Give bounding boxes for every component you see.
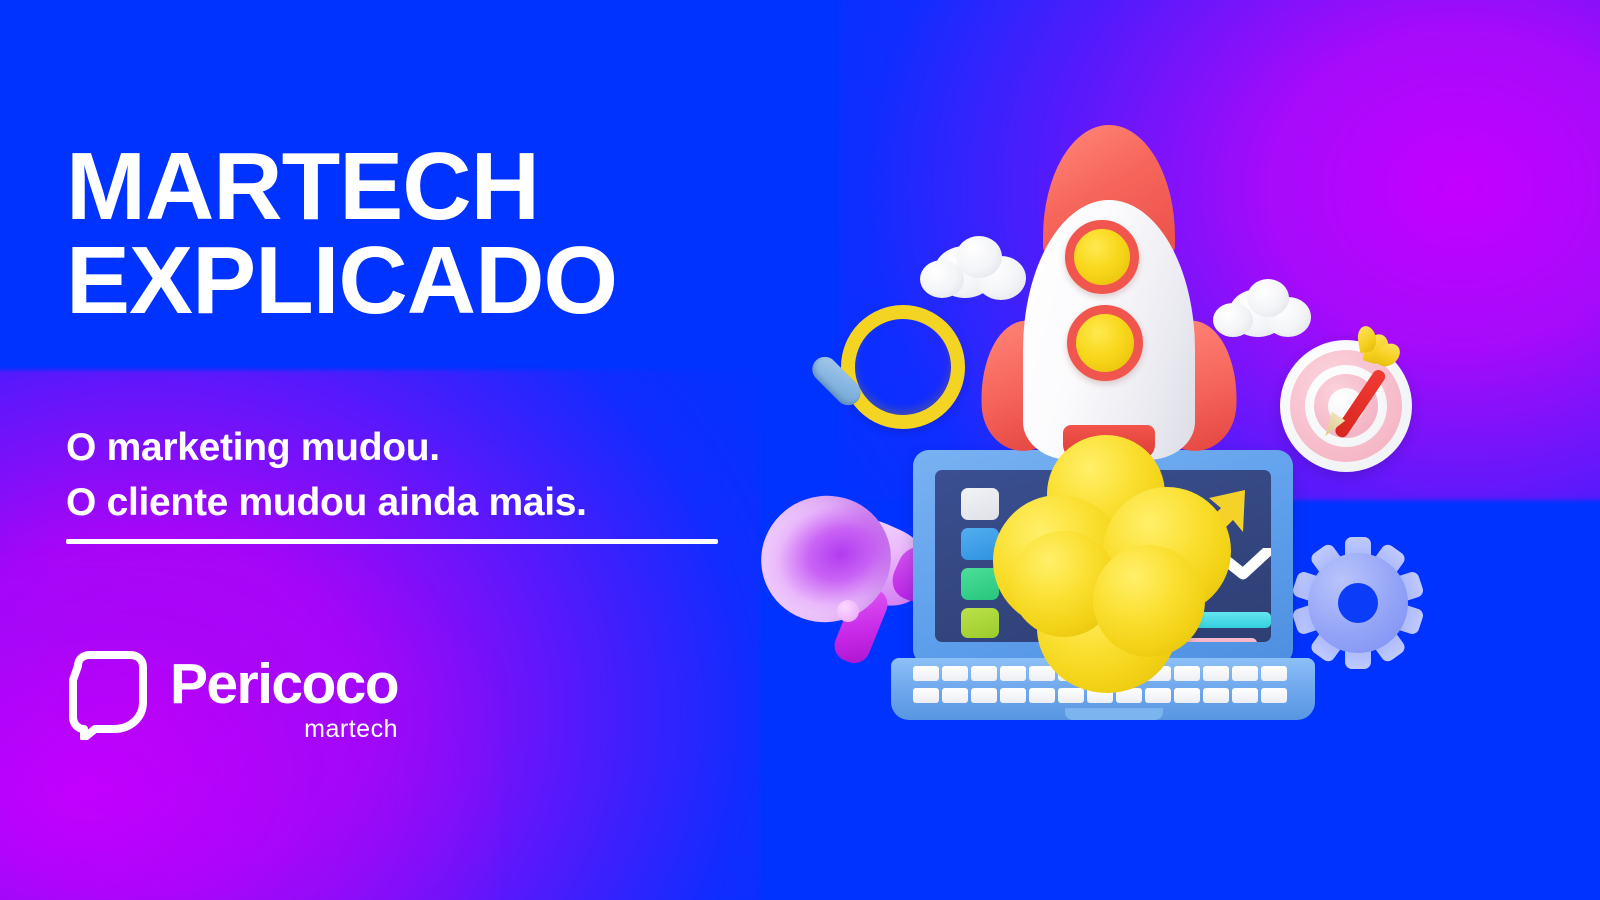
- gear-icon: [1295, 540, 1421, 666]
- megaphone-button: [837, 600, 859, 622]
- magnifier-lens: [841, 305, 965, 429]
- rocket-window-top: [1065, 220, 1139, 294]
- page-title: MARTECH EXPLICADO: [66, 140, 826, 328]
- gear-hole: [1338, 583, 1378, 623]
- logo-wordmark: Pericoco: [170, 656, 398, 713]
- speech-bubble-icon: [62, 650, 148, 740]
- headline-line-1: MARTECH: [66, 133, 539, 240]
- dartboard-icon: [1280, 340, 1412, 472]
- hero-illustration: [735, 125, 1455, 765]
- flame-cloud-icon: [985, 435, 1255, 705]
- rocket-window-bottom: [1067, 305, 1143, 381]
- rocket-icon: [985, 125, 1235, 485]
- logo-text: Pericoco martech: [170, 650, 398, 744]
- subtitle-underline: [66, 539, 718, 544]
- subtitle-line-2: O cliente mudou ainda mais.: [66, 475, 786, 530]
- subtitle-line-1: O marketing mudou.: [66, 420, 786, 475]
- laptop-trackpad: [1065, 708, 1163, 720]
- logo[interactable]: Pericoco martech: [62, 650, 398, 744]
- magnifying-glass-icon: [795, 305, 935, 455]
- headline-line-2: EXPLICADO: [66, 234, 826, 328]
- logo-tagline: martech: [170, 715, 398, 744]
- subtitle-block: O marketing mudou. O cliente mudou ainda…: [66, 420, 786, 544]
- promo-banner: MARTECH EXPLICADO O marketing mudou. O c…: [0, 0, 1600, 900]
